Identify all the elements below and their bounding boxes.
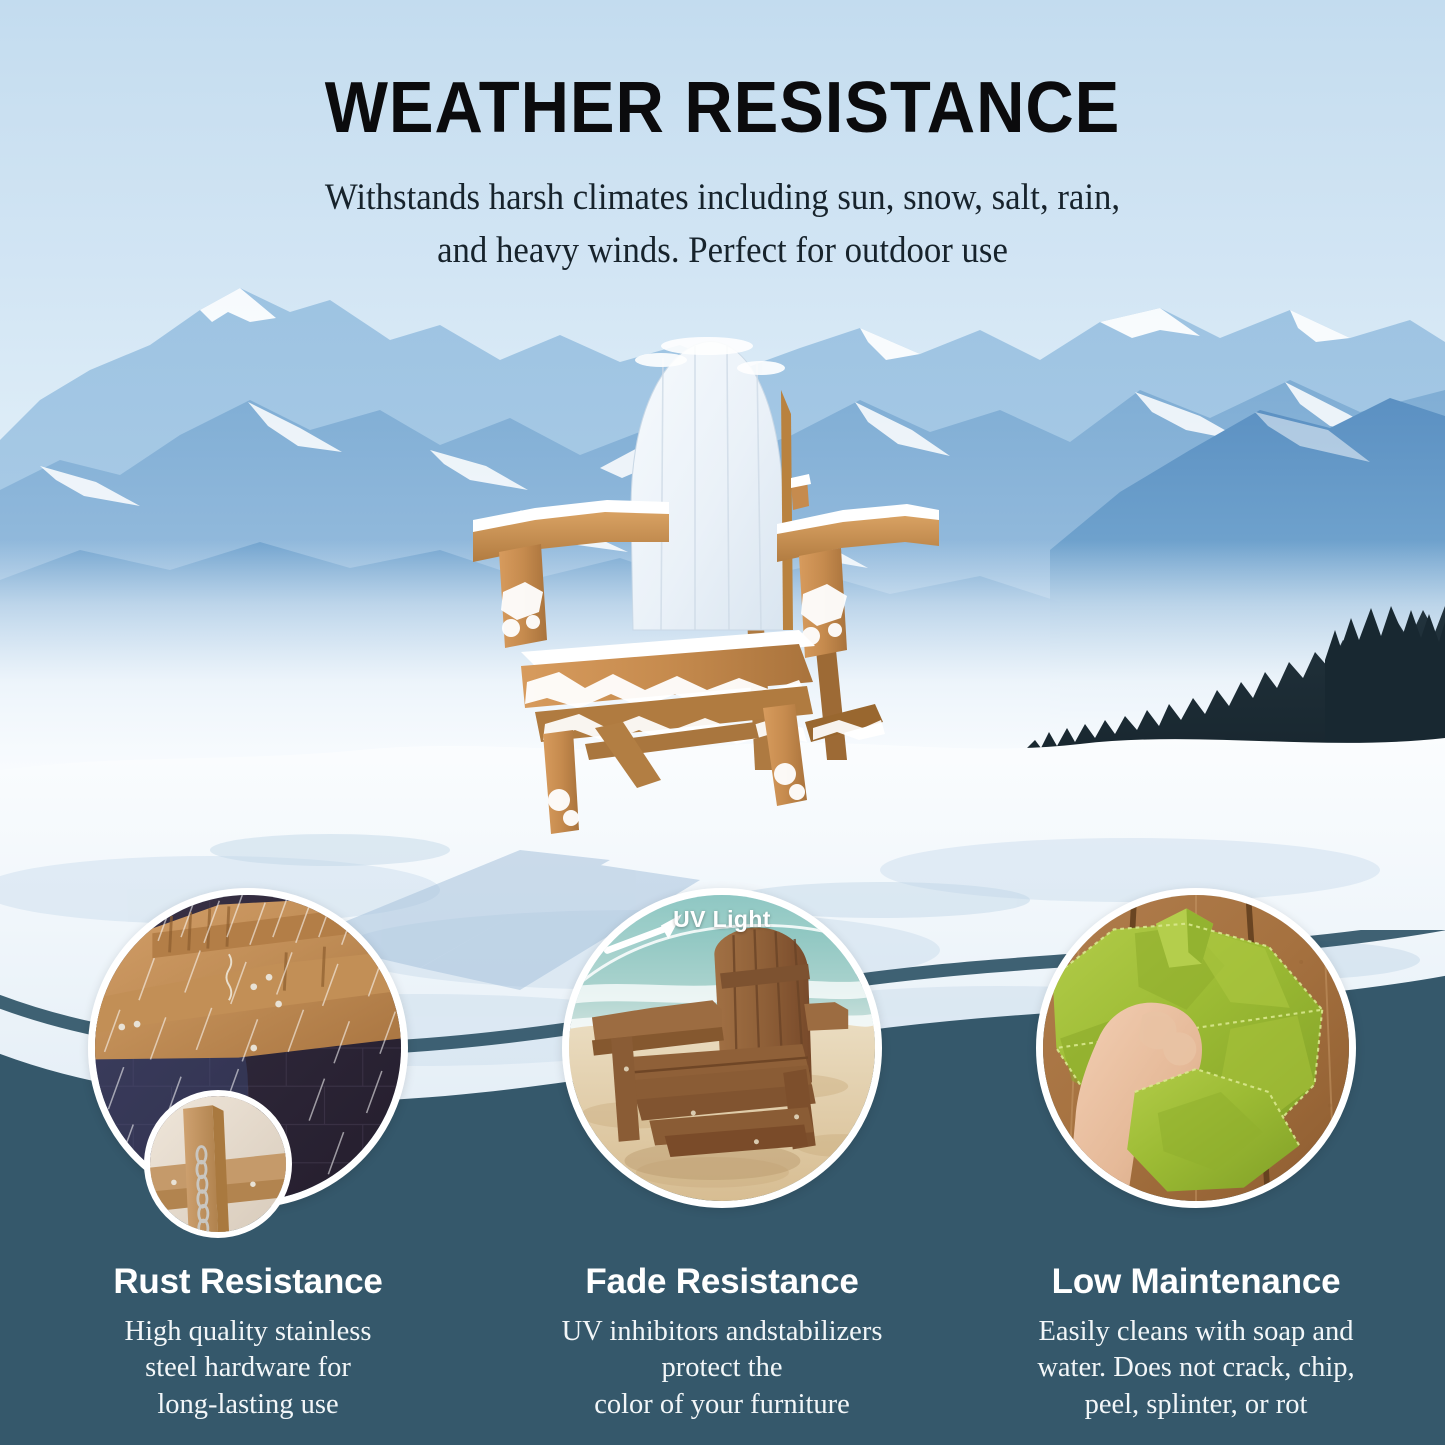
feature-1-title: Rust Resistance xyxy=(38,1262,458,1302)
feature-1-description: High quality stainless steel hardware fo… xyxy=(38,1314,458,1423)
feature-3-description: Easily cleans with soap and water. Does … xyxy=(986,1314,1406,1423)
feature-2-desc-line-1: UV inhibitors andstabilizers xyxy=(512,1314,932,1350)
feature-2-title: Fade Resistance xyxy=(512,1262,932,1302)
header: WEATHER RESISTANCE Withstands harsh clim… xyxy=(0,70,1445,277)
fade-resistance-image xyxy=(562,888,882,1208)
feature-3-desc-line-3: peel, splinter, or rot xyxy=(986,1387,1406,1423)
feature-2-desc-line-2: protect the xyxy=(512,1350,932,1386)
low-maintenance-image xyxy=(1036,888,1356,1208)
feature-3-title: Low Maintenance xyxy=(986,1262,1406,1302)
feature-1-image-wrap xyxy=(88,888,408,1208)
subtitle-line-2: and heavy winds. Perfect for outdoor use xyxy=(43,225,1401,278)
feature-1-desc-line-1: High quality stainless xyxy=(38,1314,458,1350)
feature-3-image-wrap xyxy=(1036,888,1356,1208)
weather-resistance-infographic: WEATHER RESISTANCE Withstands harsh clim… xyxy=(0,0,1445,1445)
features-section: Rust Resistance High quality stainless s… xyxy=(0,880,1445,1440)
page-title: WEATHER RESISTANCE xyxy=(51,70,1395,146)
feature-rust-resistance: Rust Resistance High quality stainless s… xyxy=(38,880,458,1423)
feature-low-maintenance: Low Maintenance Easily cleans with soap … xyxy=(986,880,1406,1423)
feature-1-desc-line-3: long-lasting use xyxy=(38,1387,458,1423)
hero-chair-image xyxy=(455,330,955,840)
feature-3-desc-line-1: Easily cleans with soap and xyxy=(986,1314,1406,1350)
feature-2-desc-line-3: color of your furniture xyxy=(512,1387,932,1423)
feature-fade-resistance: UV Light Fade Resistance UV inhibitors a… xyxy=(512,880,932,1423)
page-subtitle: Withstands harsh climates including sun,… xyxy=(43,172,1401,277)
feature-3-desc-line-2: water. Does not crack, chip, xyxy=(986,1350,1406,1386)
feature-2-description: UV inhibitors andstabilizers protect the… xyxy=(512,1314,932,1423)
subtitle-line-1: Withstands harsh climates including sun,… xyxy=(43,172,1401,225)
feature-2-image-wrap: UV Light xyxy=(562,888,882,1208)
stainless-chain-inset-image xyxy=(144,1090,292,1238)
uv-light-label: UV Light xyxy=(562,906,882,933)
feature-1-desc-line-2: steel hardware for xyxy=(38,1350,458,1386)
